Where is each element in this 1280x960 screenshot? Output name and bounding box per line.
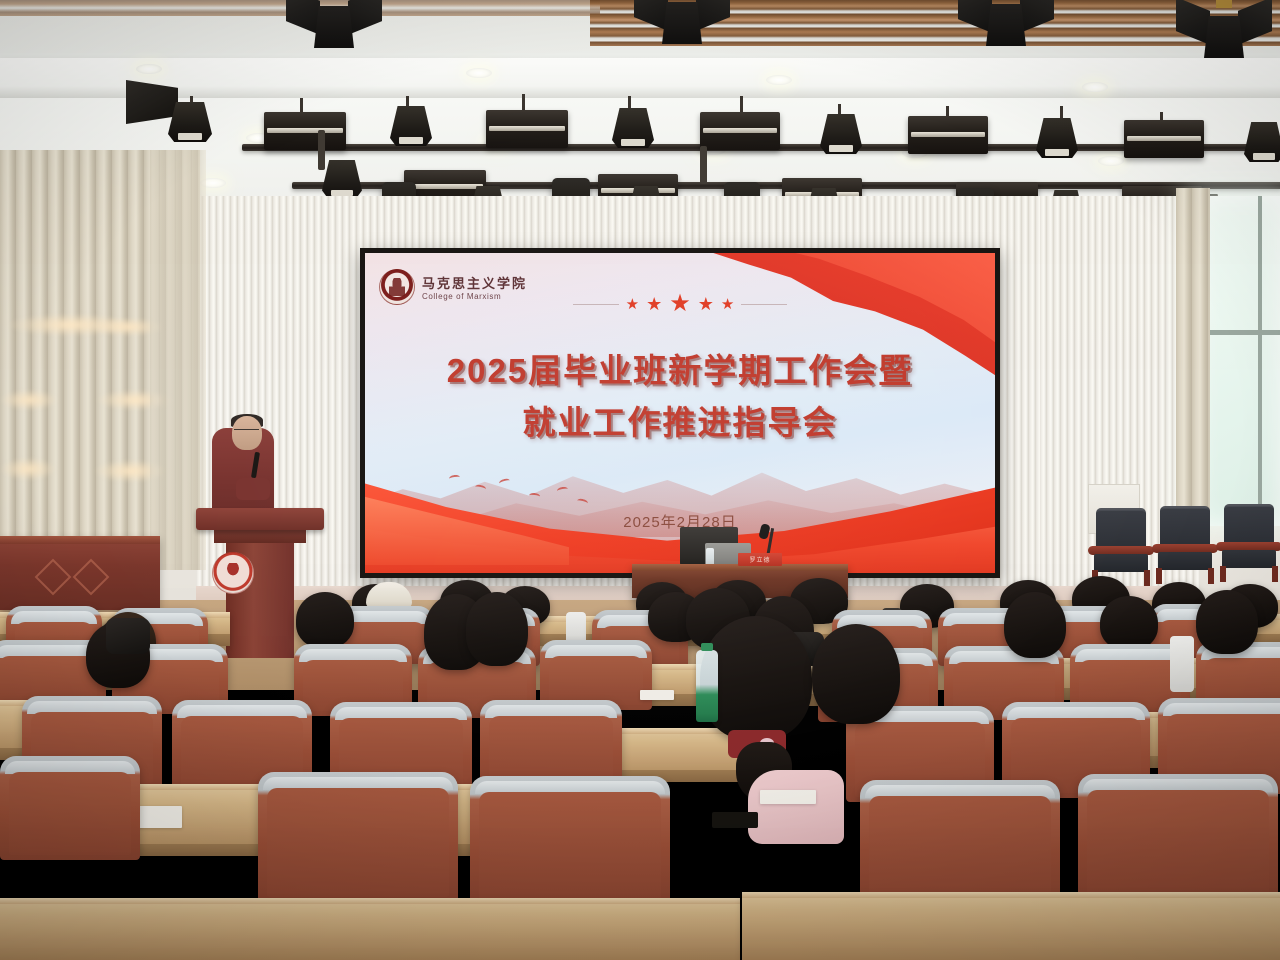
bird-icon [449, 474, 461, 481]
banner-title-line-2: 就业工作推进指导会 [365, 397, 995, 449]
stage-light-profile [322, 160, 362, 198]
name-card: 罗立德 [738, 553, 782, 566]
armchair [1152, 506, 1218, 582]
downlight-icon [466, 68, 492, 78]
desk-row-closest [0, 898, 740, 960]
lecture-seat [860, 780, 1060, 910]
bird-icon [529, 492, 541, 499]
star-icon: ★ [626, 297, 639, 312]
side-cabinet [0, 536, 160, 610]
pink-jacket [748, 770, 844, 844]
banner-title: 2025届毕业班新学期工作会暨 就业工作推进指导会 [365, 345, 995, 449]
lecture-seat [1078, 774, 1278, 904]
downlight-icon [1098, 156, 1124, 166]
stage-light-fresnel [1124, 120, 1204, 158]
decorative-line-left [573, 304, 619, 305]
stage-light-profile [390, 106, 432, 146]
backpack [106, 618, 150, 654]
decorative-line-right [741, 304, 787, 305]
armchair [1216, 504, 1280, 580]
stage-light-profile [820, 114, 862, 154]
star-icon: ★ [698, 295, 714, 313]
name-card-text: 罗立德 [749, 555, 770, 564]
lecture-seat [0, 756, 140, 860]
lecture-seat [258, 772, 458, 902]
paper-sheet [760, 790, 816, 804]
stage-light-profile [168, 102, 212, 142]
downlight-icon [766, 75, 792, 85]
star-icon: ★ [669, 292, 691, 316]
lecture-seat [470, 776, 670, 906]
phone [712, 812, 758, 828]
institution-name-cn: 马克思主义学院 [422, 273, 527, 292]
star-icon: ★ [721, 297, 734, 312]
audience-head [466, 592, 528, 666]
stage-light-fresnel [908, 116, 988, 154]
downlight-icon [136, 64, 162, 74]
audience-head [1100, 596, 1158, 650]
downlight-icon [1082, 82, 1108, 92]
lecture-hall-photo: 马克思主义学院 College of Marxism ★ ★ ★ ★ ★ 202… [0, 0, 1280, 960]
presenter-glasses-icon [234, 429, 259, 434]
right-curtain [1176, 188, 1210, 540]
audience-head [1196, 590, 1258, 654]
stage-light-fresnel [264, 112, 346, 150]
star-icon: ★ [646, 295, 662, 313]
thermos-bottle [1170, 636, 1194, 692]
ceiling-step [0, 58, 1280, 98]
water-bottle [696, 650, 718, 722]
star-decoration-row: ★ ★ ★ ★ ★ [365, 291, 995, 317]
stage-light-fresnel [486, 110, 568, 148]
lectern-school-emblem-icon [212, 552, 254, 594]
armchair [1088, 508, 1154, 584]
presenter-arm [236, 478, 270, 500]
stage-light-profile [1036, 118, 1078, 158]
desk-row-closest [742, 892, 1280, 960]
stage-light-profile [612, 108, 654, 148]
paper-sheet [640, 690, 674, 700]
audience-head [296, 592, 354, 648]
stage-light-fresnel [700, 112, 780, 150]
banner-title-line-1: 2025届毕业班新学期工作会暨 [365, 345, 995, 397]
bird-icon [498, 478, 510, 487]
audience-head [812, 624, 900, 724]
audience-head [1004, 592, 1066, 658]
